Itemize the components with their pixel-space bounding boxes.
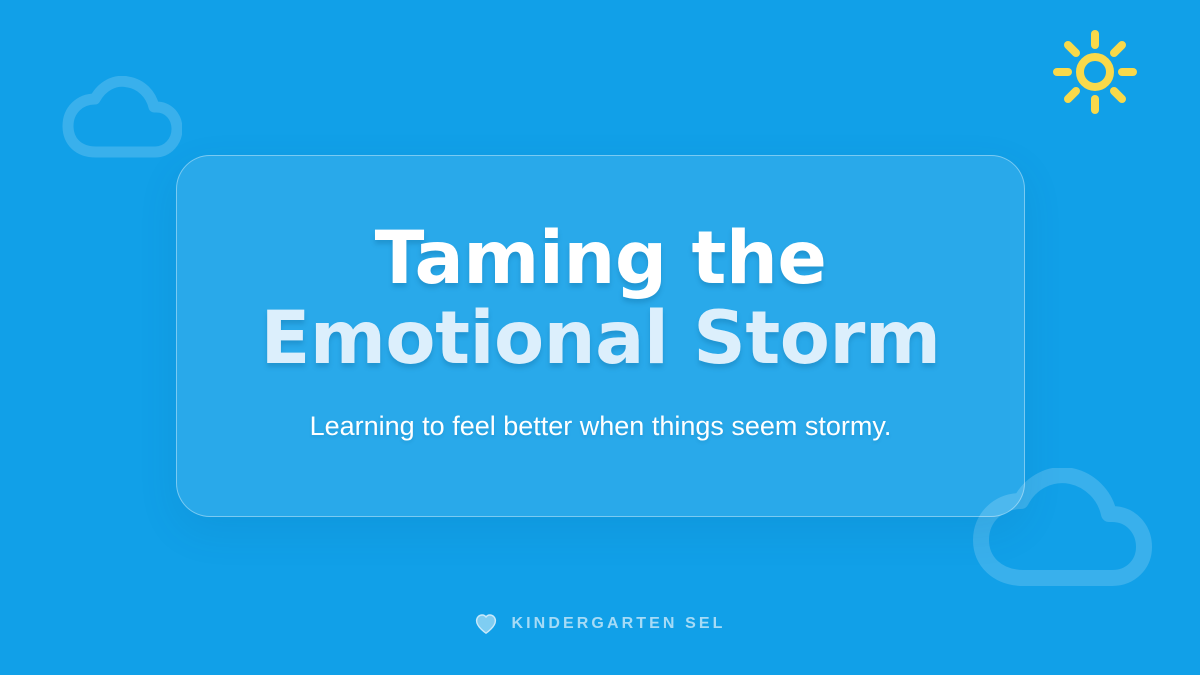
title-line-1: Taming the <box>260 219 940 299</box>
sun-icon <box>1049 26 1141 118</box>
title-card: Taming the Emotional Storm Learning to f… <box>176 155 1025 517</box>
presentation-slide: Taming the Emotional Storm Learning to f… <box>0 0 1200 675</box>
footer-label: KINDERGARTEN SEL <box>511 615 725 633</box>
subtitle: Learning to feel better when things seem… <box>310 409 892 445</box>
cloud-icon-top-left <box>62 76 182 162</box>
footer-branding: KINDERGARTEN SEL <box>0 612 1200 636</box>
page-title: Taming the Emotional Storm <box>260 219 940 378</box>
title-line-2: Emotional Storm <box>260 299 940 379</box>
heart-icon <box>474 612 498 636</box>
